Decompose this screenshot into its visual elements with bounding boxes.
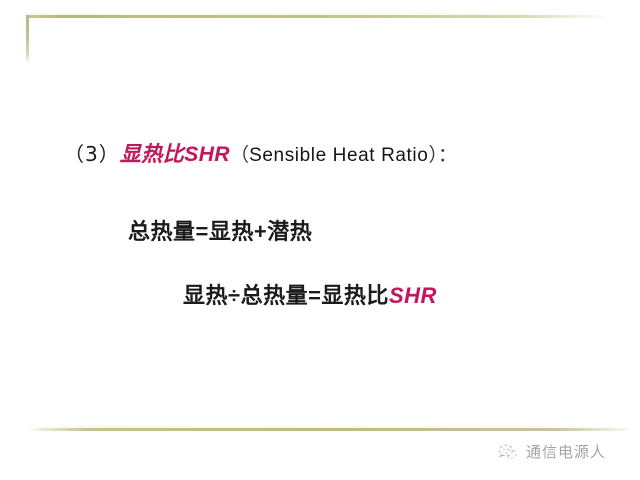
wechat-bubble-icon [498,443,518,461]
watermark: 通信电源人 [498,441,606,462]
slide-canvas: （3）显热比SHR（Sensible Heat Ratio）： 总热量=显热+潜… [0,0,640,480]
equation-total-heat-text: 总热量=显热+潜热 [128,219,312,244]
equation-shr-emphasis: SHR [389,283,437,308]
left-rule [26,15,29,63]
top-rule [26,15,608,18]
heading-close-paren: ） [428,145,438,166]
equation-shr-text: 显热÷总热量=显热比 [183,283,389,308]
heading-english: Sensible Heat Ratio [249,145,428,166]
heading-line: （3）显热比SHR（Sensible Heat Ratio）： [64,139,457,171]
equation-total-heat: 总热量=显热+潜热 [128,214,312,246]
heading-term: 显热比SHR [120,143,230,166]
heading-open-paren: （ [230,145,249,166]
bottom-rule [28,428,630,431]
heading-colon: ： [438,145,457,166]
equation-shr: 显热÷总热量=显热比SHR [183,278,437,310]
heading-number: （3） [64,142,120,166]
watermark-label: 通信电源人 [526,441,606,462]
